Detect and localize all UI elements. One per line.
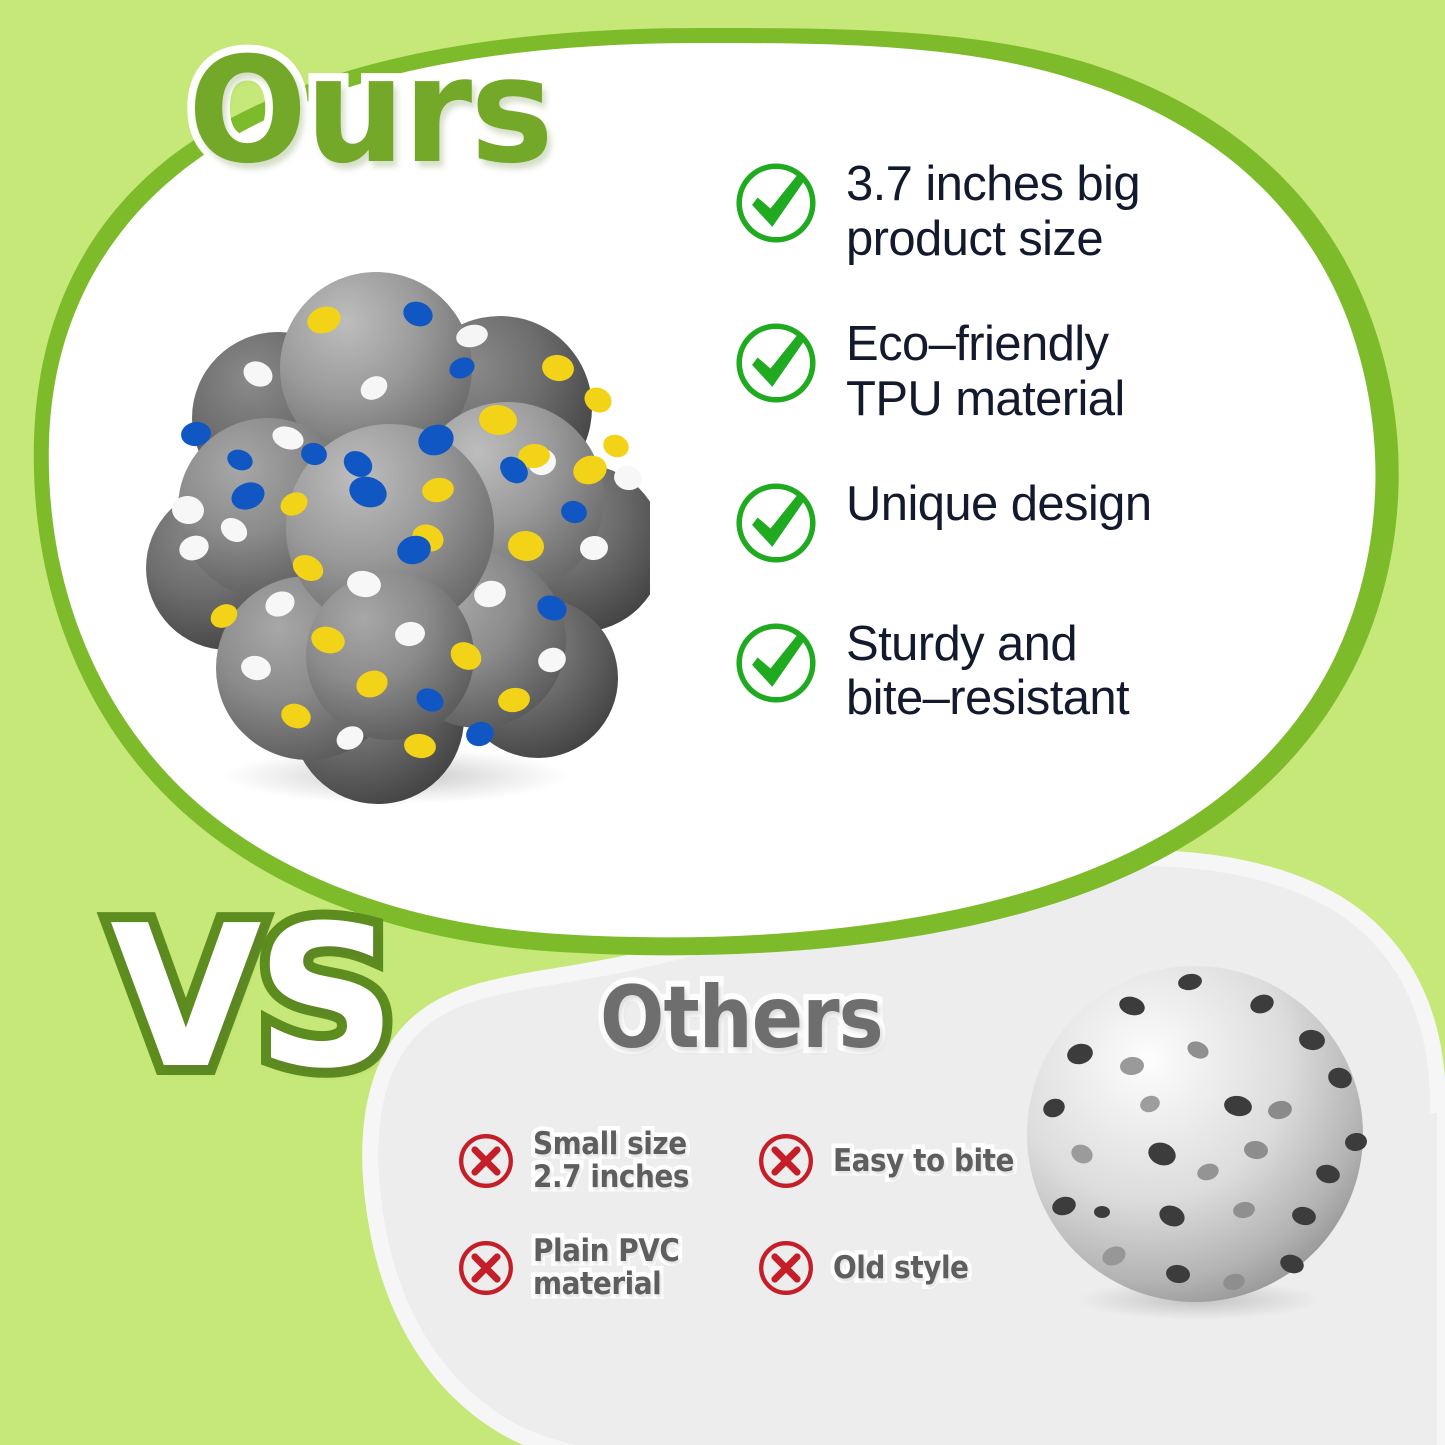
check-circle-icon bbox=[730, 157, 822, 249]
list-item-label: Small size 2.7 inches bbox=[533, 1128, 689, 1195]
list-item-label: Eco–friendly TPU material bbox=[846, 315, 1125, 427]
list-item-label: Old style bbox=[833, 1252, 969, 1285]
list-item-label: 3.7 inches big product size bbox=[846, 155, 1140, 267]
x-circle-icon bbox=[755, 1237, 817, 1299]
list-item-label: Sturdy and bite–resistant bbox=[846, 615, 1129, 727]
ours-feature-list: 3.7 inches big product size Eco–friendly… bbox=[730, 155, 1200, 726]
list-item: 3.7 inches big product size bbox=[730, 155, 1200, 267]
x-circle-icon bbox=[455, 1130, 517, 1192]
versus-label: VS bbox=[110, 900, 391, 1096]
list-item: Unique design bbox=[730, 475, 1200, 567]
list-item-label: Plain PVC material bbox=[533, 1235, 679, 1302]
x-circle-icon bbox=[455, 1237, 517, 1299]
list-item-label: Unique design bbox=[846, 475, 1151, 532]
list-item: Eco–friendly TPU material bbox=[730, 315, 1200, 427]
list-item: Sturdy and bite–resistant bbox=[730, 615, 1200, 727]
section-title-others: Others bbox=[600, 975, 883, 1061]
list-item-label: Easy to bite bbox=[833, 1145, 1014, 1178]
infographic-canvas: Ours VS Others 3.7 inches big product si… bbox=[0, 0, 1445, 1445]
others-drawback-list: Small size 2.7 inches Easy to bite Plain… bbox=[455, 1128, 1075, 1302]
ours-product-ball-image bbox=[128, 248, 650, 808]
check-circle-icon bbox=[730, 477, 822, 569]
list-item: Old style bbox=[755, 1235, 1055, 1302]
list-item: Plain PVC material bbox=[455, 1235, 755, 1302]
x-circle-icon bbox=[755, 1130, 817, 1192]
check-circle-icon bbox=[730, 317, 822, 409]
page-title-ours: Ours bbox=[188, 38, 552, 184]
list-item: Easy to bite bbox=[755, 1128, 1055, 1195]
list-item: Small size 2.7 inches bbox=[455, 1128, 755, 1195]
check-circle-icon bbox=[730, 617, 822, 709]
